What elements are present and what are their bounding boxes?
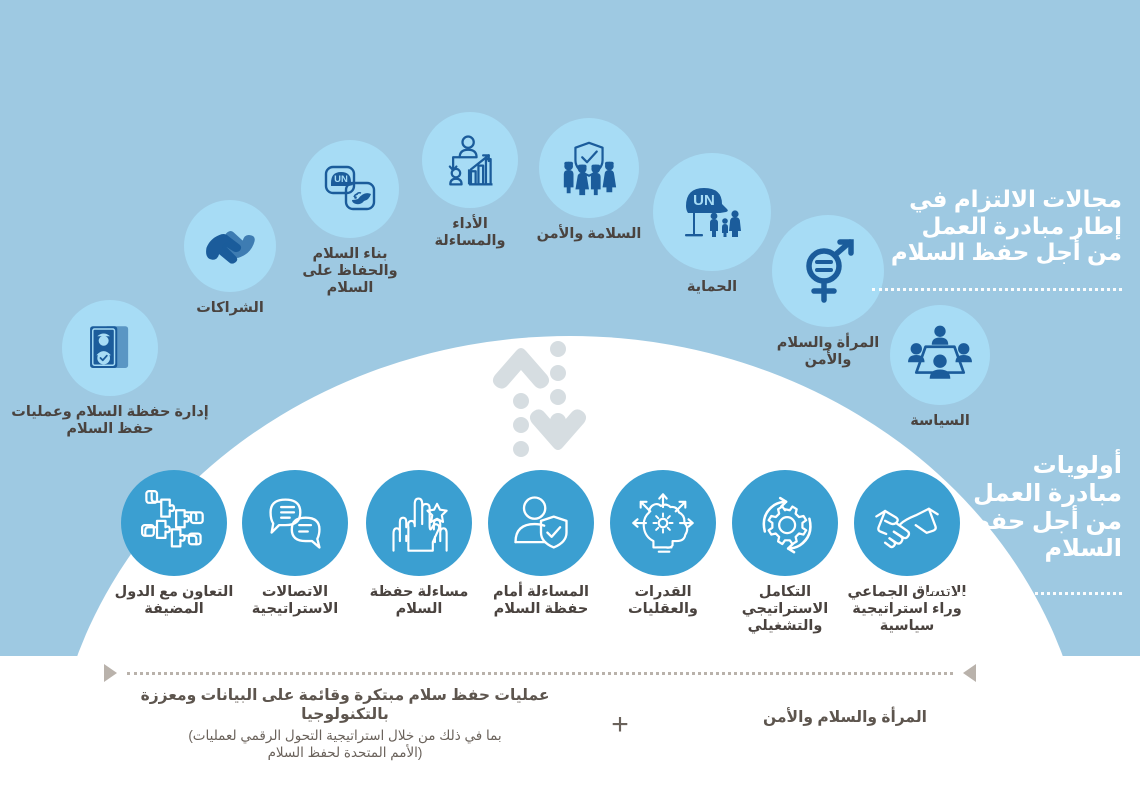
commitment-node-peacebuilding[interactable]: UN بناء السلام والحفاظ على السلام bbox=[288, 140, 412, 297]
circle-pale bbox=[62, 300, 158, 396]
circle-pale bbox=[422, 112, 518, 208]
rule-dots bbox=[127, 672, 953, 675]
commitment-node-partnerships[interactable]: الشراكات bbox=[160, 200, 300, 317]
footer-plus-sign: + bbox=[580, 686, 660, 742]
heading-commitment-areas: مجالات الالتزام في إطار مبادرة العمل من … bbox=[862, 186, 1122, 266]
circle-solid bbox=[488, 470, 594, 576]
priority-node-capacities-mindsets[interactable]: القدرات والعقليات bbox=[602, 470, 724, 618]
heading-priorities-underline bbox=[927, 592, 1122, 595]
commitment-node-protection[interactable]: UN الحماية bbox=[650, 153, 774, 296]
commitment-node-policy[interactable]: السياسة bbox=[880, 305, 1000, 430]
footer-innovative-peacekeeping: عمليات حفظ سلام مبتكرة وقائمة على البيان… bbox=[110, 686, 580, 762]
priority-label: مساءلة حفظة السلام bbox=[358, 584, 480, 618]
commitment-label: الشراكات bbox=[160, 300, 300, 317]
commitment-node-safety-security[interactable]: السلامة والأمن bbox=[528, 118, 650, 243]
priority-node-accountability-of-peacekeepers[interactable]: مساءلة حفظة السلام bbox=[358, 470, 480, 618]
footer-left-title: عمليات حفظ سلام مبتكرة وقائمة على البيان… bbox=[110, 686, 580, 725]
head-gear-arrows-icon bbox=[629, 489, 697, 557]
speech-bubbles-icon bbox=[261, 489, 329, 557]
commitment-node-performance-accountability[interactable]: الأداء والمساءلة bbox=[412, 112, 528, 250]
commitment-label: الحماية bbox=[650, 279, 774, 296]
svg-text:UN: UN bbox=[693, 192, 715, 209]
footer-right-title: المرأة والسلام والأمن bbox=[660, 708, 1030, 727]
un-helmet-family-icon: UN bbox=[676, 176, 748, 248]
priority-label: المساءلة أمام حفظة السلام bbox=[480, 584, 602, 618]
priority-node-host-state-cooperation[interactable]: التعاون مع الدول المضيفة bbox=[110, 470, 238, 618]
priority-node-strategic-communications[interactable]: الاتصالات الاستراتيجية bbox=[234, 470, 356, 618]
svg-text:UN: UN bbox=[334, 174, 348, 185]
bottom-divider-rule bbox=[104, 664, 976, 682]
roundtable-meeting-icon bbox=[907, 322, 973, 388]
peacekeeper-handbook-icon bbox=[81, 319, 139, 377]
priority-node-strategic-operational-integration[interactable]: التكامل الاستراتيجي والتشغيلي bbox=[724, 470, 846, 635]
commitment-label: المرأة والسلام والأمن bbox=[766, 335, 890, 369]
circle-pale: UN bbox=[301, 140, 399, 238]
person-shield-icon bbox=[507, 489, 575, 557]
commitment-label: الأداء والمساءلة bbox=[412, 216, 528, 250]
un-helmet-dove-icon: UN bbox=[318, 157, 382, 221]
circle-pale bbox=[539, 118, 639, 218]
circle-pale bbox=[184, 200, 276, 292]
circle-pale bbox=[890, 305, 990, 405]
raised-hands-star-icon bbox=[385, 489, 453, 557]
heading-priorities: أولويات مبادرة العمل من أجل حفظ السلام bbox=[922, 452, 1122, 563]
commitment-label: السياسة bbox=[880, 413, 1000, 430]
circle-solid bbox=[366, 470, 472, 576]
priority-node-accountability-to-peacekeepers[interactable]: المساءلة أمام حفظة السلام bbox=[480, 470, 602, 618]
rule-arrow-right-icon bbox=[104, 664, 117, 682]
priority-label: القدرات والعقليات bbox=[602, 584, 724, 618]
circle-solid bbox=[610, 470, 716, 576]
heading-commitment-underline bbox=[872, 288, 1122, 291]
footer-row: المرأة والسلام والأمن + عمليات حفظ سلام … bbox=[0, 686, 1140, 796]
up-down-chevron-dots-icon bbox=[483, 337, 593, 462]
circle-solid bbox=[732, 470, 838, 576]
priority-label: الاتصالات الاستراتيجية bbox=[234, 584, 356, 618]
commitment-label: السلامة والأمن bbox=[528, 226, 650, 243]
puzzle-hands-icon bbox=[140, 489, 208, 557]
commitment-label: إدارة حفظة السلام وعمليات حفظ السلام bbox=[10, 404, 210, 438]
circle-solid bbox=[121, 470, 227, 576]
handshake-hands-icon bbox=[201, 217, 259, 275]
footer-left-subtitle: بما في ذلك من خلال استراتيجية التحول الر… bbox=[110, 727, 580, 762]
shield-people-icon bbox=[558, 137, 620, 199]
infographic-canvas: مجالات الالتزام في إطار مبادرة العمل من … bbox=[0, 0, 1140, 806]
commitment-label: بناء السلام والحفاظ على السلام bbox=[288, 246, 412, 297]
performance-chart-icon bbox=[440, 130, 500, 190]
circle-solid bbox=[242, 470, 348, 576]
gear-cycle-icon bbox=[751, 489, 819, 557]
commitment-node-peacekeeping-management[interactable]: إدارة حفظة السلام وعمليات حفظ السلام bbox=[10, 300, 210, 438]
footer-women-peace-security: المرأة والسلام والأمن bbox=[660, 686, 1030, 727]
gender-equality-icon bbox=[793, 236, 863, 306]
priority-label: التكامل الاستراتيجي والتشغيلي bbox=[724, 584, 846, 635]
priority-label: التعاون مع الدول المضيفة bbox=[110, 584, 238, 618]
rule-arrow-left-icon bbox=[963, 664, 976, 682]
circle-pale: UN bbox=[653, 153, 771, 271]
